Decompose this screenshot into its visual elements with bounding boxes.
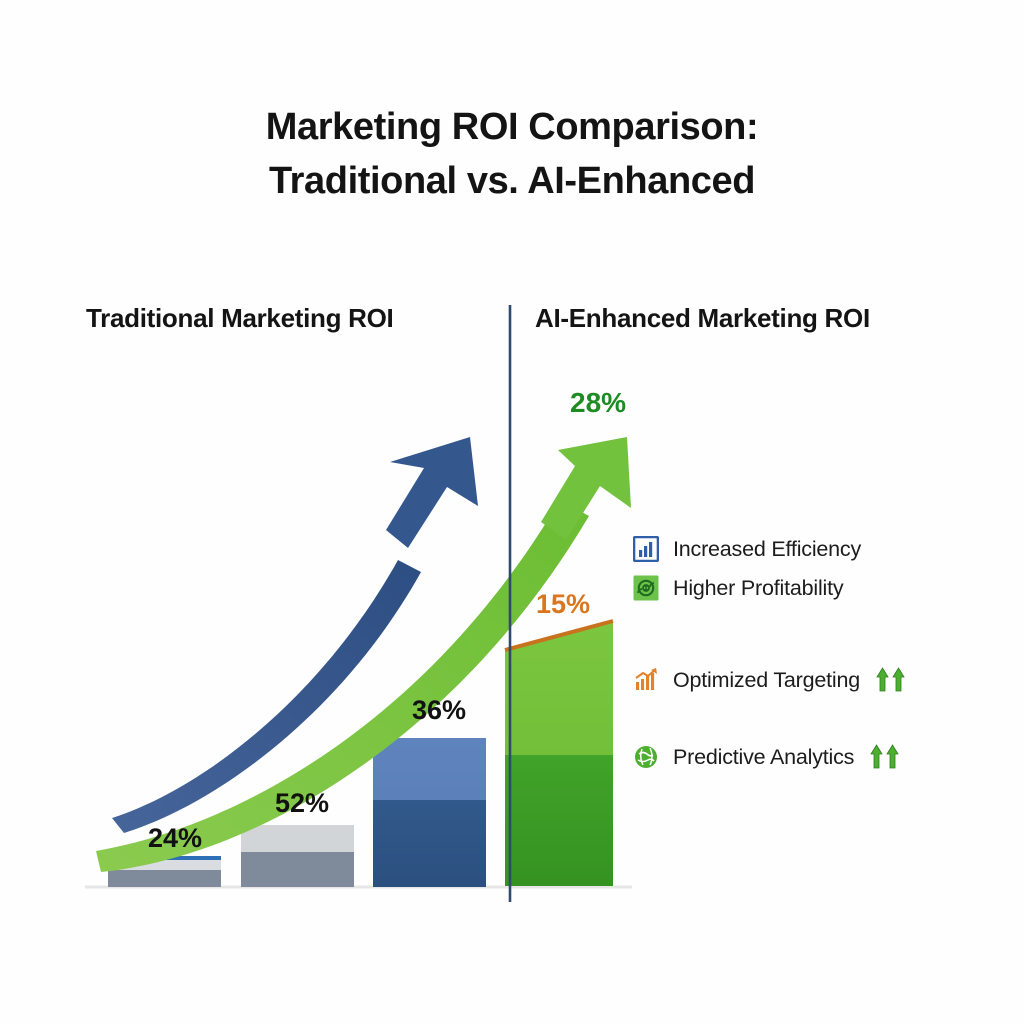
legend-item-increased-efficiency[interactable]: Increased Efficiency <box>633 536 861 562</box>
bar-traditional-1-bottom-segment <box>108 870 221 887</box>
globe-analytics-icon <box>633 744 659 770</box>
data-label-52: 52% <box>275 788 329 819</box>
bar-ai-enhanced <box>505 621 613 886</box>
bar-ai-enhanced-top-segment <box>505 622 613 755</box>
data-label-24: 24% <box>148 823 202 854</box>
bar-traditional-3-top-segment <box>373 738 486 800</box>
legend-item-predictive-analytics[interactable]: Predictive Analytics <box>633 744 899 770</box>
legend-item-label: Optimized Targeting <box>673 668 860 693</box>
bar-traditional-2-top-segment <box>241 825 354 852</box>
double-up-arrow-icon <box>876 667 905 693</box>
data-label-36: 36% <box>412 695 466 726</box>
legend-item-higher-profitability[interactable]: Higher Profitability <box>633 575 843 601</box>
data-label-15: 15% <box>536 589 590 620</box>
profit-gear-icon <box>633 575 659 601</box>
double-up-arrow-icon <box>870 744 899 770</box>
bar-chart-icon <box>633 536 659 562</box>
legend-item-label: Predictive Analytics <box>673 745 854 770</box>
trend-up-chart-icon <box>633 667 659 693</box>
annotation-label-28: 28% <box>570 387 626 419</box>
infographic-canvas: Marketing ROI Comparison: Traditional vs… <box>0 0 1024 1024</box>
legend-item-optimized-targeting[interactable]: Optimized Targeting <box>633 667 905 693</box>
chart-plot-area <box>0 0 1024 1024</box>
bar-traditional-2-bottom-segment <box>241 852 354 887</box>
bar-traditional-3-bottom-segment <box>373 800 486 887</box>
legend-item-label: Increased Efficiency <box>673 537 861 562</box>
legend-item-label: Higher Profitability <box>673 576 843 601</box>
bar-traditional-2 <box>241 825 354 887</box>
bar-traditional-3 <box>373 738 486 887</box>
bar-ai-enhanced-bottom-segment <box>505 755 613 886</box>
